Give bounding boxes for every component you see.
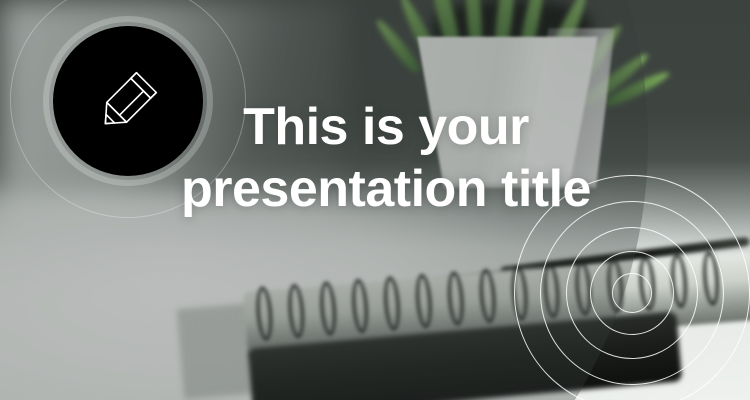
page-title: This is your presentation title — [155, 96, 617, 220]
presentation-slide: This is your presentation title — [0, 0, 750, 400]
